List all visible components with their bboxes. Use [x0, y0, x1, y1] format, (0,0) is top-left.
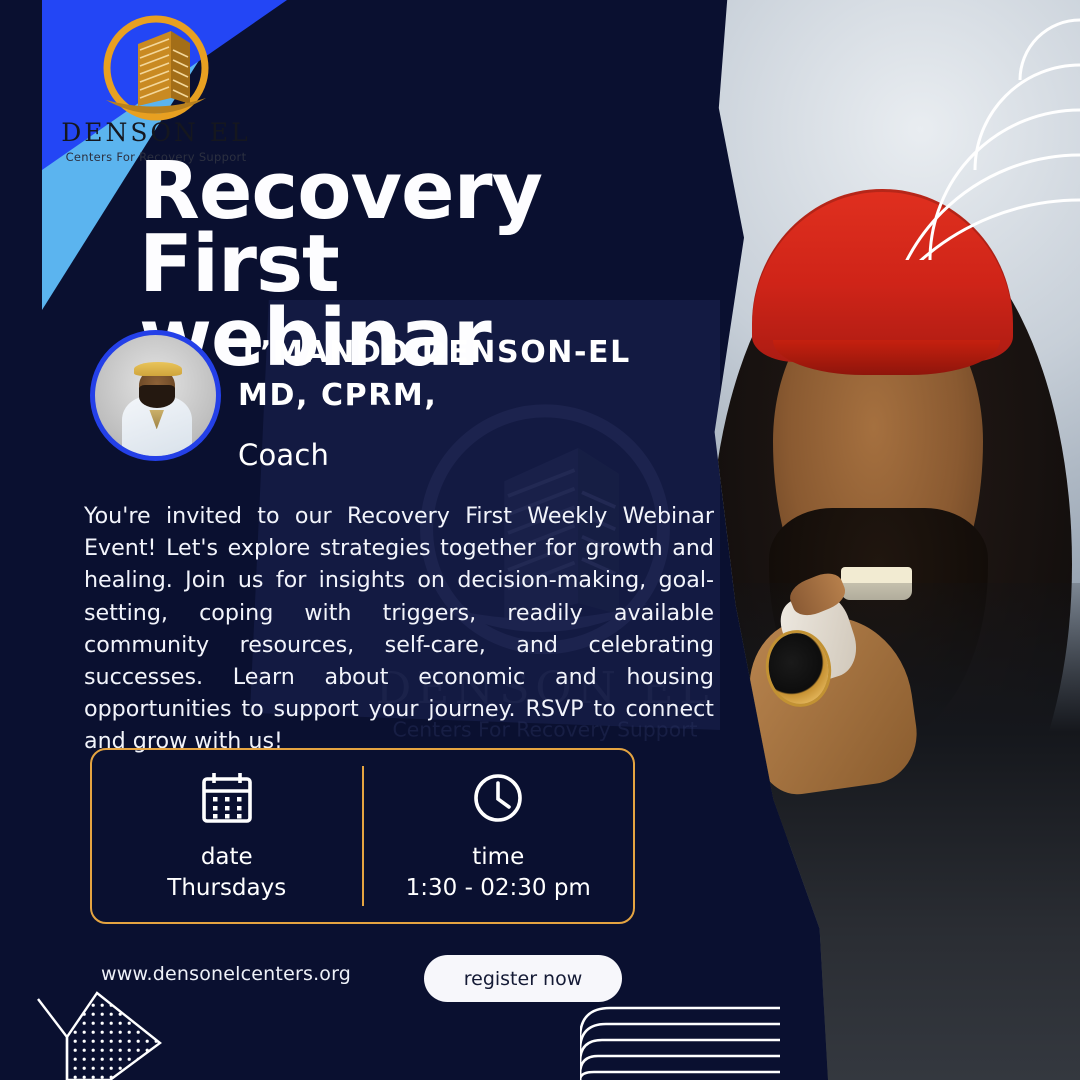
speaker-photo [660, 0, 1080, 1080]
dotted-diamond-decor [10, 985, 200, 1080]
speaker-name-line-1: T’MANDO DENSON-EL [238, 332, 688, 375]
avatar [90, 330, 221, 461]
date-label: date [92, 842, 362, 873]
calendar-icon [92, 768, 362, 828]
description-paragraph: You're invited to our Recovery First Wee… [84, 500, 714, 758]
time-label: time [364, 842, 634, 873]
date-value: Thursdays [92, 873, 362, 904]
webinar-poster: DENSON EL Centers For Recovery Support [0, 0, 1080, 1080]
speaker-name-line-2: MD, CPRM, [238, 375, 688, 418]
speaker-role: Coach [238, 438, 329, 472]
clock-icon [364, 768, 634, 828]
time-column: time 1:30 - 02:30 pm [364, 768, 634, 904]
title-line-1: Recovery First [139, 155, 699, 302]
logo-wordmark: DENSON EL [56, 118, 256, 147]
event-details-card: date Thursdays time 1:30 - 02:30 pm [90, 748, 635, 924]
website-url[interactable]: www.densonelcenters.org [101, 963, 351, 985]
date-column: date Thursdays [92, 768, 362, 904]
time-value: 1:30 - 02:30 pm [364, 873, 634, 904]
speaker-name: T’MANDO DENSON-EL MD, CPRM, [238, 332, 688, 417]
register-now-button[interactable]: register now [424, 955, 622, 1002]
